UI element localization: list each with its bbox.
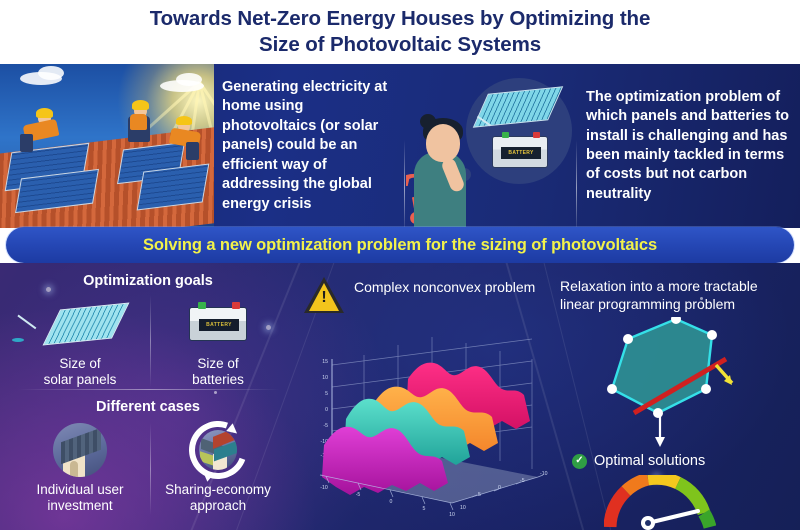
optimization-goals-heading: Optimization goals [0, 273, 296, 289]
different-cases-heading: Different cases [0, 399, 296, 415]
title-bar: Towards Net-Zero Energy Houses by Optimi… [0, 0, 800, 64]
divider-horizontal [18, 389, 280, 390]
divider-vertical [404, 140, 405, 228]
warning-text: Complex nonconvex problem [354, 277, 535, 297]
title-line-1: Towards Net-Zero Energy Houses by Optimi… [150, 7, 651, 30]
thinking-person-illustration: BATTERY ? [406, 64, 576, 228]
gradient-arrow-icon [716, 365, 732, 385]
left-panel-text: Generating electricity at home using pho… [222, 78, 394, 214]
relaxation-text: Relaxation into a more tractable linear … [560, 277, 794, 313]
page-title: Towards Net-Zero Energy Houses by Optimi… [90, 6, 711, 58]
hard-hat-icon [36, 108, 53, 118]
battery-terminal-positive [198, 302, 206, 309]
svg-text:-5: -5 [520, 478, 525, 484]
gauge-segment-orange [626, 479, 648, 491]
optimal-solutions-row: ✓ Optimal solutions [572, 453, 705, 469]
feasible-region-diagram [576, 317, 776, 447]
cloud-icon [176, 73, 202, 86]
optimal-solutions-label: Optimal solutions [594, 453, 705, 469]
solar-panel-base [12, 338, 24, 342]
title-line-2: Size of Photovoltaic Systems [259, 33, 541, 56]
infographic-root: Towards Net-Zero Energy Houses by Optimi… [0, 0, 800, 530]
sharing-glyph: ▶ ▶ [189, 421, 247, 479]
performance-gauge-icon [604, 475, 716, 530]
worker-icon [130, 114, 147, 130]
worker-icon [20, 134, 33, 152]
top-band: Generating electricity at home using pho… [0, 64, 800, 228]
goal-caption: Size of batteries [150, 356, 286, 388]
solar-panel-stand [18, 315, 37, 329]
svg-text:10: 10 [449, 512, 455, 518]
svg-text:-10: -10 [540, 471, 548, 477]
highlight-banner: Solving a new optimization problem for t… [6, 227, 794, 263]
right-column: Relaxation into a more tractable linear … [548, 263, 800, 530]
solar-panel-icon [12, 295, 148, 353]
gauge-segment-green [704, 513, 710, 527]
solar-panel-glyph [43, 303, 130, 346]
svg-text:5: 5 [423, 506, 426, 512]
warning-row: ! Complex nonconvex problem [304, 277, 535, 313]
svg-text:0: 0 [390, 499, 393, 505]
gauge-segment-lightgreen [678, 483, 704, 513]
gauge-hub-inner [645, 520, 651, 526]
battery-terminal-negative [232, 302, 240, 309]
svg-text:10: 10 [460, 505, 466, 511]
svg-text:5: 5 [325, 391, 328, 397]
right-panel-text: The optimization problem of which panels… [586, 88, 792, 205]
nonconvex-surface-plot: 15 10 5 0 -5 -10 -15 [302, 325, 548, 525]
svg-text:10: 10 [322, 375, 328, 381]
svg-text:0: 0 [498, 485, 501, 491]
left-column: Optimization goals Size of solar panels [0, 263, 296, 530]
gauge-needle [648, 511, 698, 523]
case-caption: Individual user investment [12, 482, 148, 514]
svg-text:0: 0 [325, 407, 328, 413]
exclamation-glyph: ! [304, 290, 344, 306]
gauge-segment-red [610, 491, 626, 527]
hard-hat-icon [132, 100, 149, 110]
case-item-individual: Individual user investment [12, 421, 148, 514]
sharing-economy-icon: ▶ ▶ [150, 421, 286, 479]
battery-icon: BATTERY [150, 295, 286, 353]
person-head [426, 124, 460, 162]
case-item-sharing: ▶ ▶ Sharing-economy approach [150, 421, 286, 514]
battery-label: BATTERY [501, 147, 541, 159]
case-caption-text: Individual user investment [36, 482, 123, 513]
house-door [70, 461, 78, 477]
battery-terminal-negative [533, 132, 540, 138]
case-caption: Sharing-economy approach [150, 482, 286, 514]
down-arrow-icon [655, 413, 665, 447]
house-with-solar-icon [12, 421, 148, 479]
goal-caption-text: Size of solar panels [44, 356, 117, 387]
left-panel-text-block: Generating electricity at home using pho… [222, 64, 394, 228]
shared-houses-glyph [199, 430, 237, 470]
gauge-segment-yellow [648, 478, 678, 483]
svg-text:5: 5 [478, 492, 481, 498]
banner-text: Solving a new optimization problem for t… [143, 236, 657, 255]
middle-column: ! Complex nonconvex problem [296, 263, 548, 530]
battery-label: BATTERY [199, 319, 239, 331]
svg-text:15: 15 [322, 359, 328, 365]
cloud-icon [38, 66, 64, 80]
bubble-battery-icon: BATTERY [492, 136, 548, 168]
svg-text:-5: -5 [323, 423, 328, 429]
goal-caption: Size of solar panels [12, 356, 148, 388]
solar-installation-photo [0, 64, 214, 228]
case-caption-text: Sharing-economy approach [165, 482, 271, 513]
bottom-band: Optimization goals Size of solar panels [0, 263, 800, 530]
warning-triangle-icon: ! [304, 277, 344, 313]
battery-terminal-positive [502, 132, 509, 138]
right-panel-text-block: The optimization problem of which panels… [586, 64, 792, 228]
goal-item-solar-panels: Size of solar panels [12, 295, 148, 388]
svg-text:-5: -5 [356, 492, 361, 498]
divider-vertical [576, 140, 577, 228]
worker-icon [186, 142, 199, 160]
goal-caption-text: Size of batteries [192, 356, 244, 387]
check-icon: ✓ [572, 454, 587, 469]
svg-text:-10: -10 [320, 485, 328, 491]
goal-item-batteries: BATTERY Size of batteries [150, 295, 286, 388]
battery-glyph: BATTERY [189, 307, 247, 341]
hard-hat-icon [176, 116, 192, 125]
house-glyph [53, 423, 107, 477]
